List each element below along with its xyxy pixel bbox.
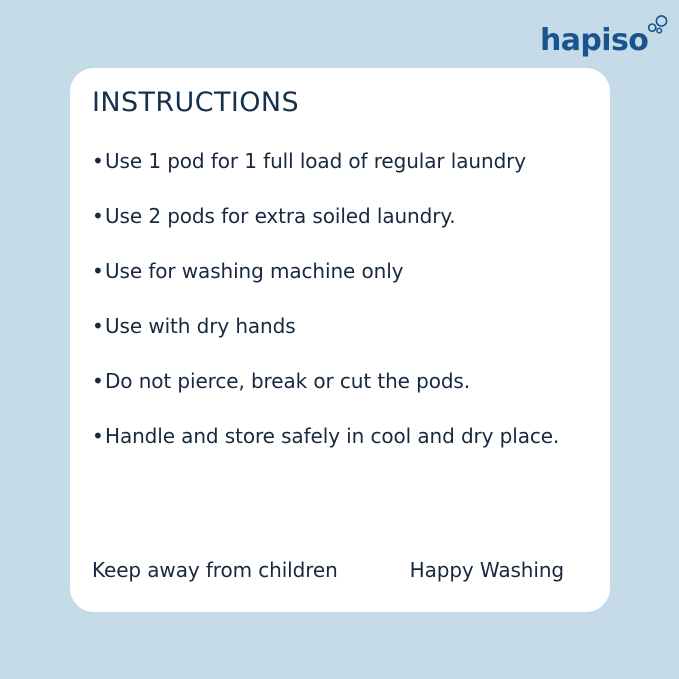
list-item: • Use 1 pod for 1 full load of regular l… bbox=[92, 151, 592, 206]
bullet-icon: • bbox=[92, 371, 105, 392]
list-item-text: Use with dry hands bbox=[105, 316, 296, 337]
brand-logo: hapiso bbox=[540, 12, 672, 56]
list-item-text: Use for washing machine only bbox=[105, 261, 403, 282]
page-title: INSTRUCTIONS bbox=[92, 87, 299, 118]
instructions-card: INSTRUCTIONS • Use 1 pod for 1 full load… bbox=[70, 68, 610, 612]
brand-name: hapiso bbox=[540, 26, 648, 56]
list-item-text: Use 1 pod for 1 full load of regular lau… bbox=[105, 151, 526, 172]
list-item: • Do not pierce, break or cut the pods. bbox=[92, 371, 592, 426]
bullet-icon: • bbox=[92, 206, 105, 227]
list-item: • Handle and store safely in cool and dr… bbox=[92, 426, 592, 481]
product-label-page: hapiso INSTRUCTIONS • Use 1 pod for 1 fu… bbox=[0, 0, 679, 679]
card-footer: Keep away from children Happy Washing bbox=[92, 555, 588, 585]
bullet-icon: • bbox=[92, 261, 105, 282]
list-item-text: Use 2 pods for extra soiled laundry. bbox=[105, 206, 455, 227]
bullet-icon: • bbox=[92, 426, 105, 447]
list-item: • Use with dry hands bbox=[92, 316, 592, 371]
footer-warning-text: Keep away from children bbox=[92, 558, 338, 582]
list-item-text: Do not pierce, break or cut the pods. bbox=[105, 371, 470, 392]
instructions-list: • Use 1 pod for 1 full load of regular l… bbox=[92, 151, 592, 481]
footer-closing-text: Happy Washing bbox=[410, 558, 564, 582]
list-item-text: Handle and store safely in cool and dry … bbox=[105, 426, 559, 447]
list-item: • Use for washing machine only bbox=[92, 261, 592, 316]
list-item: • Use 2 pods for extra soiled laundry. bbox=[92, 206, 592, 261]
bubbles-icon bbox=[644, 14, 670, 40]
bullet-icon: • bbox=[92, 316, 105, 337]
bullet-icon: • bbox=[92, 151, 105, 172]
